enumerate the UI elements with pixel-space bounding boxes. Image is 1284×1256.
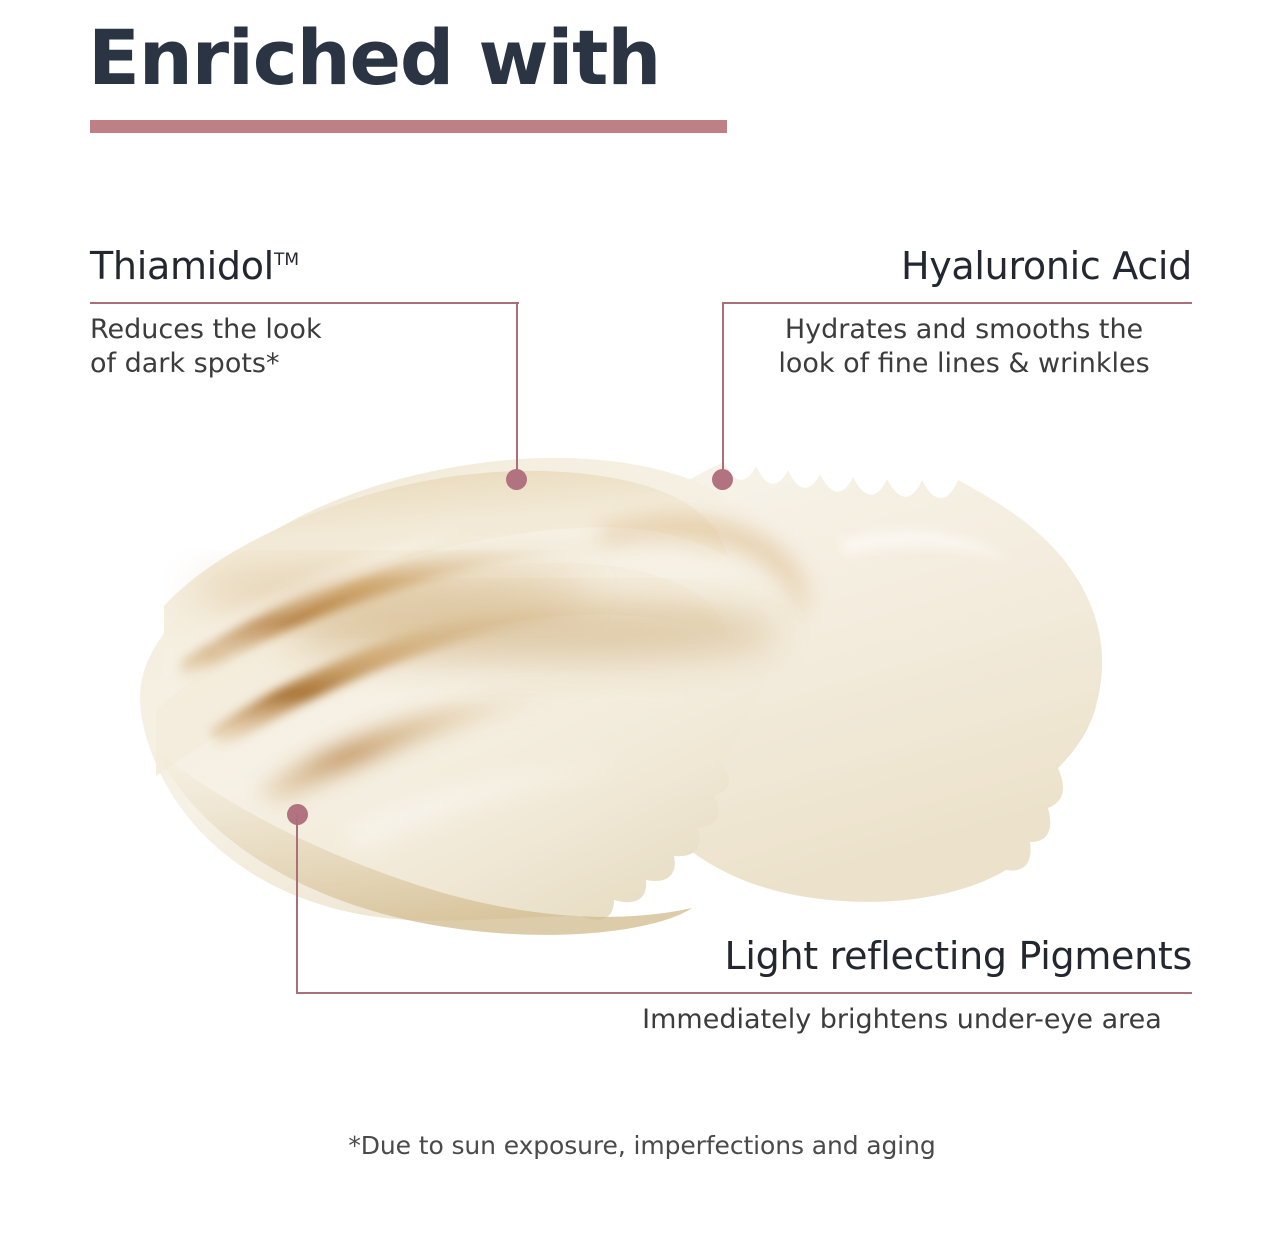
page-title: Enriched with — [88, 18, 660, 98]
callout-thiamidol-connector-dot — [506, 469, 527, 490]
callout-pigments-heading: Light reflecting Pigments — [725, 936, 1192, 978]
callout-pigments-rule — [296, 992, 1192, 994]
callout-thiamidol-body: Reduces the look of dark spots* — [90, 313, 510, 381]
callout-hyaluronic-heading: Hyaluronic Acid — [901, 246, 1192, 288]
cream-swatch-image — [60, 410, 1240, 940]
callout-pigments-body: Immediately brightens under-eye area — [612, 1003, 1192, 1037]
callout-hyaluronic-connector-dot — [712, 469, 733, 490]
infographic-canvas: Enriched with — [0, 0, 1284, 1256]
callout-thiamidol-heading-text: Thiamidol — [90, 244, 274, 288]
footnote: *Due to sun exposure, imperfections and … — [0, 1131, 1284, 1160]
callout-hyaluronic-connector-line — [722, 302, 724, 480]
callout-pigments-connector-line — [296, 814, 298, 994]
callout-thiamidol-heading: ThiamidolTM — [90, 246, 299, 288]
callout-thiamidol-rule — [90, 302, 519, 304]
callout-thiamidol-connector-line — [516, 302, 518, 480]
callout-hyaluronic-rule — [723, 302, 1192, 304]
trademark-symbol: TM — [274, 250, 299, 270]
callout-hyaluronic-body: Hydrates and smooths the look of fine li… — [735, 313, 1193, 381]
title-underline-bar — [90, 120, 727, 133]
